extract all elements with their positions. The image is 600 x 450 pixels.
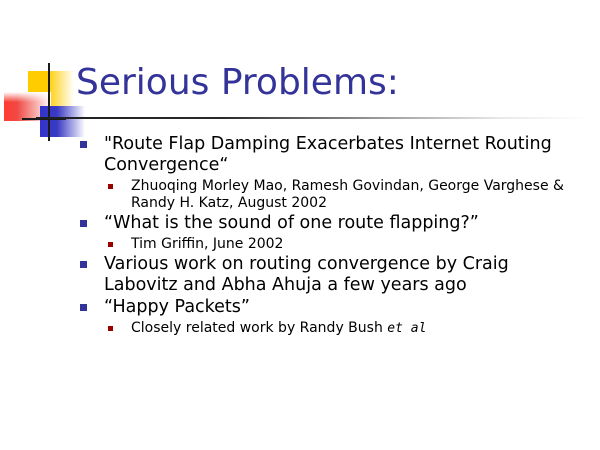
slide-canvas: Serious Problems: "Route Flap Damping Ex…: [0, 0, 600, 450]
bullet-text: “What is the sound of one route flapping…: [104, 213, 479, 233]
sub-bullet-square-icon: [108, 184, 113, 189]
title-divider: [36, 117, 588, 119]
bullet-text: Various work on routing convergence by C…: [104, 254, 509, 295]
bullet-item: “Happy Packets”: [78, 297, 578, 318]
sub-bullet-text: Closely related work by Randy Bush: [131, 320, 387, 336]
sub-bullet-group: Zhuoqing Morley Mao, Ramesh Govindan, Ge…: [78, 178, 578, 212]
bullet-square-icon: [80, 261, 87, 268]
sub-bullet-group: Closely related work by Randy Bush et al: [78, 320, 578, 337]
logo-vertical-line: [48, 63, 50, 141]
bullet-item: Various work on routing convergence by C…: [78, 254, 578, 296]
sub-bullet-item: Tim Griffin, June 2002: [78, 236, 578, 253]
bullet-square-icon: [80, 304, 87, 311]
sub-bullet-square-icon: [108, 242, 113, 247]
sub-bullet-text: Zhuoqing Morley Mao, Ramesh Govindan, Ge…: [131, 178, 564, 211]
sub-bullet-item: Closely related work by Randy Bush et al: [78, 320, 578, 337]
sub-bullet-italic-text: et al: [387, 321, 426, 336]
bullet-square-icon: [80, 141, 87, 148]
sub-bullet-text: Tim Griffin, June 2002: [131, 236, 283, 252]
bullet-item: “What is the sound of one route flapping…: [78, 213, 578, 234]
sub-bullet-item: Zhuoqing Morley Mao, Ramesh Govindan, Ge…: [78, 178, 578, 212]
bullet-text: “Happy Packets”: [104, 297, 250, 317]
sub-bullet-square-icon: [108, 326, 113, 331]
bullet-text: "Route Flap Damping Exacerbates Internet…: [104, 134, 552, 175]
bullet-item: "Route Flap Damping Exacerbates Internet…: [78, 134, 578, 176]
page-title: Serious Problems:: [76, 62, 399, 104]
bullet-square-icon: [80, 220, 87, 227]
logo-blue-square: [40, 106, 85, 137]
sub-bullet-group: Tim Griffin, June 2002: [78, 236, 578, 253]
bullet-list: "Route Flap Damping Exacerbates Internet…: [78, 134, 578, 338]
